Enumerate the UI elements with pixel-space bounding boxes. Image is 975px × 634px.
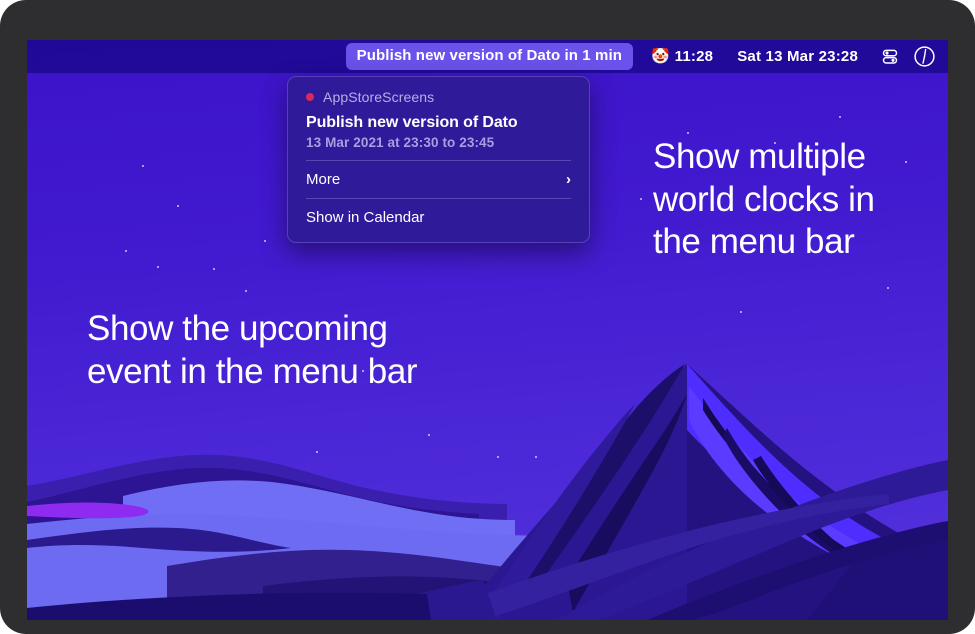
control-center-icon[interactable] xyxy=(881,47,900,66)
dropdown-calendar-name: AppStoreScreens xyxy=(323,89,434,105)
dropdown-event-title: Publish new version of Dato xyxy=(288,108,589,132)
wallpaper-star xyxy=(213,268,215,270)
wallpaper-star xyxy=(687,132,689,134)
dropdown-event-time-range: 13 Mar 2021 at 23:30 to 23:45 xyxy=(288,132,589,160)
wallpaper-star xyxy=(125,250,127,252)
menubar-event-pill[interactable]: Publish new version of Dato in 1 min xyxy=(346,43,633,69)
wallpaper-star xyxy=(905,161,907,163)
menubar-world-clock-time: 11:28 xyxy=(675,49,714,64)
wallpaper-star xyxy=(839,116,841,118)
wallpaper-star xyxy=(640,198,642,200)
calendar-color-dot-icon xyxy=(306,93,314,101)
wallpaper-star xyxy=(177,205,179,207)
chevron-right-icon: › xyxy=(566,172,571,187)
event-dropdown-popover: AppStoreScreens Publish new version of D… xyxy=(287,76,590,243)
menubar-date-time[interactable]: Sat 13 Mar 23:28 xyxy=(732,49,863,64)
caption-world-clocks: Show multiple world clocks in the menu b… xyxy=(653,136,875,264)
dropdown-item-more[interactable]: More › xyxy=(288,161,589,198)
desktop-screen: Show multiple world clocks in the menu b… xyxy=(27,40,948,620)
dropdown-item-show-in-calendar-label: Show in Calendar xyxy=(306,209,424,226)
wallpaper-star xyxy=(887,287,889,289)
wallpaper-star xyxy=(142,165,144,167)
dropdown-item-show-in-calendar[interactable]: Show in Calendar xyxy=(288,199,589,236)
dropdown-item-more-label: More xyxy=(306,171,340,188)
wallpaper-star xyxy=(264,240,266,242)
dropdown-calendar-row: AppStoreScreens xyxy=(288,86,589,108)
menu-bar: Publish new version of Dato in 1 min 🤡 1… xyxy=(27,40,948,73)
caption-upcoming-event: Show the upcoming event in the menu bar xyxy=(87,308,417,393)
analog-clock-icon[interactable] xyxy=(913,45,936,68)
wallpaper-star xyxy=(157,266,159,268)
menubar-world-clock-item[interactable]: 🤡 11:28 xyxy=(646,49,718,64)
device-bezel: Show multiple world clocks in the menu b… xyxy=(0,0,975,634)
clown-face-icon: 🤡 xyxy=(651,49,670,64)
